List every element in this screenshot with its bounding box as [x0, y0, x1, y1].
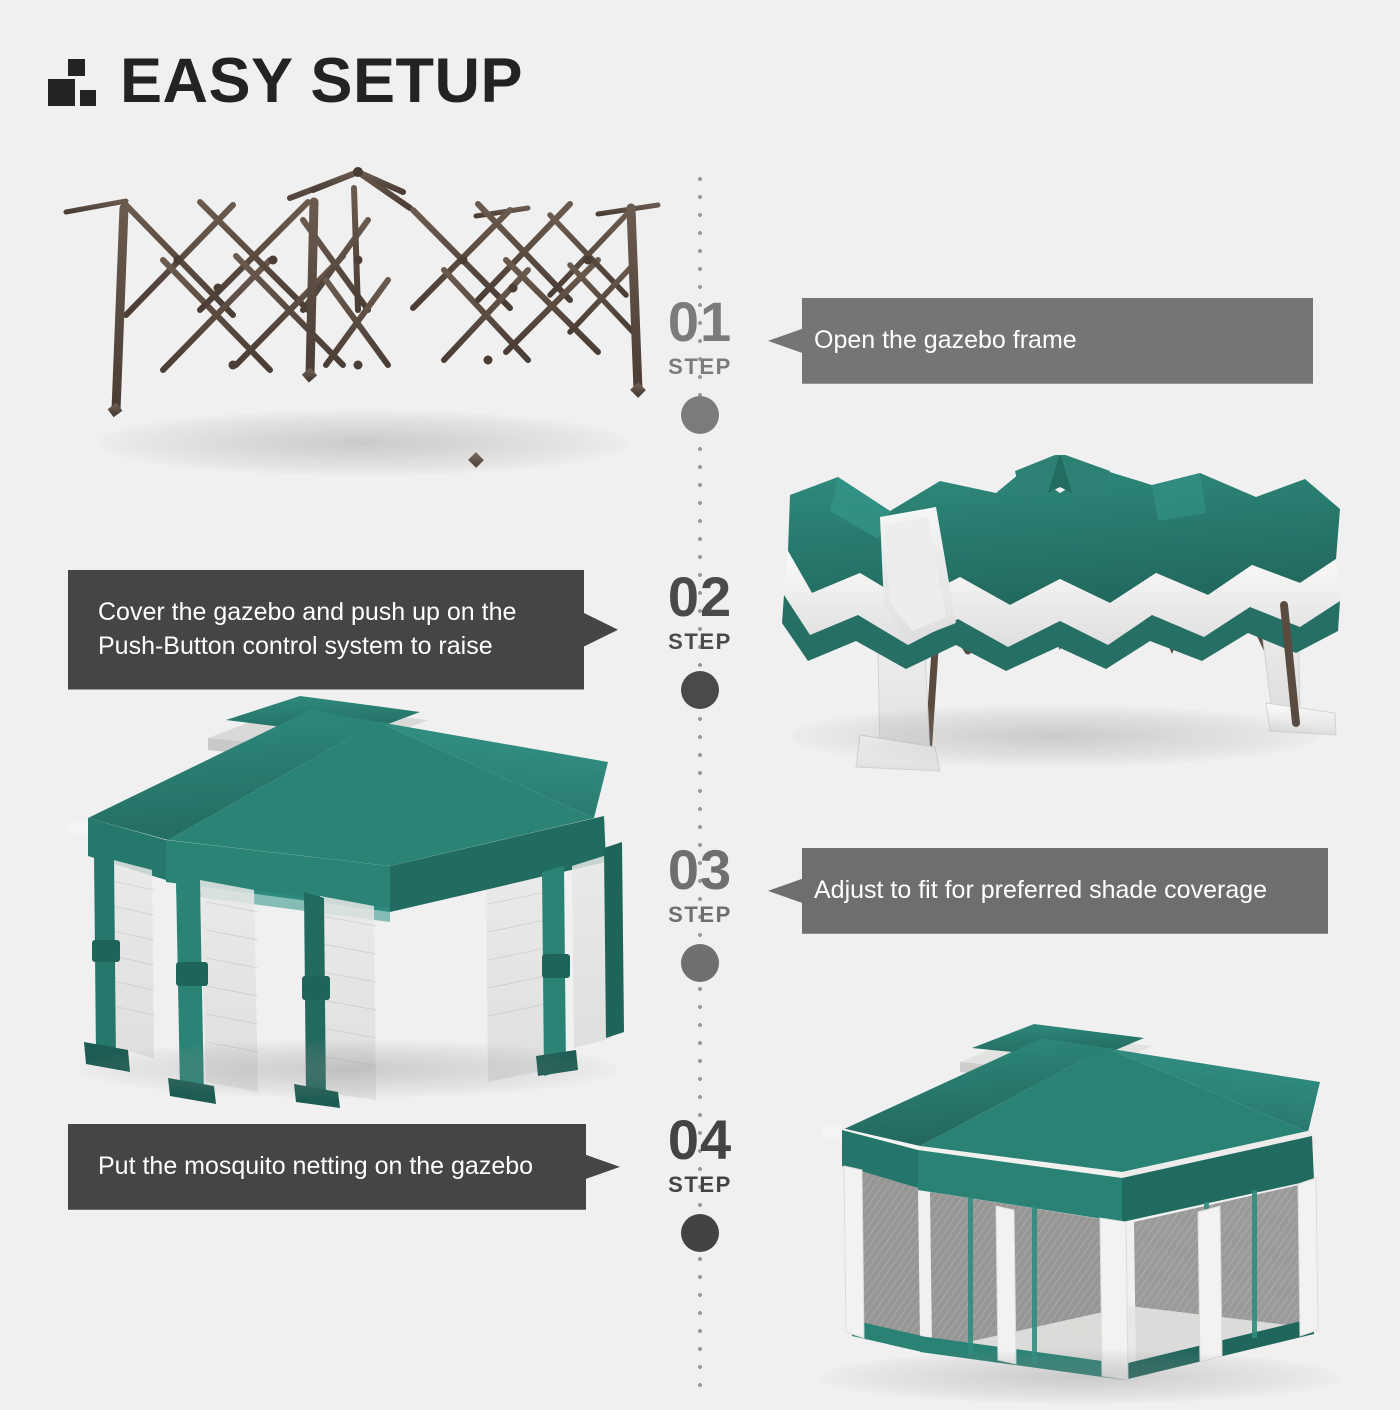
- callout-text: Put the mosquito netting on the gazebo: [98, 1150, 533, 1184]
- step-label: STEP: [615, 1172, 785, 1198]
- step-dot-icon: [681, 396, 719, 434]
- image-gazebo-canopy-draped: [760, 455, 1360, 795]
- step-dot-icon: [681, 1214, 719, 1252]
- callout-text: Cover the gazebo and push up on the Push…: [98, 596, 566, 664]
- callout-step-02: Cover the gazebo and push up on the Push…: [68, 570, 618, 690]
- callout-text: Adjust to fit for preferred shade covera…: [814, 874, 1267, 908]
- three-squares-icon: [48, 57, 98, 107]
- page-header: EASY SETUP: [48, 50, 523, 113]
- callout-text: Open the gazebo frame: [814, 324, 1077, 358]
- step-dot-icon: [681, 671, 719, 709]
- page-title: EASY SETUP: [120, 50, 523, 113]
- callout-step-04: Put the mosquito netting on the gazebo: [68, 1124, 620, 1210]
- image-gazebo-netted: [800, 1020, 1385, 1405]
- callout-step-03: Adjust to fit for preferred shade covera…: [768, 848, 1328, 934]
- image-gazebo-frame: [58, 160, 668, 500]
- step-dot-icon: [681, 944, 719, 982]
- callout-step-01: Open the gazebo frame: [768, 298, 1313, 384]
- image-gazebo-erected: [48, 690, 668, 1110]
- gazebo-netted-illustration: [800, 1020, 1385, 1405]
- step-marker-04: 04 STEP: [615, 1113, 785, 1252]
- step-number: 04: [615, 1113, 785, 1166]
